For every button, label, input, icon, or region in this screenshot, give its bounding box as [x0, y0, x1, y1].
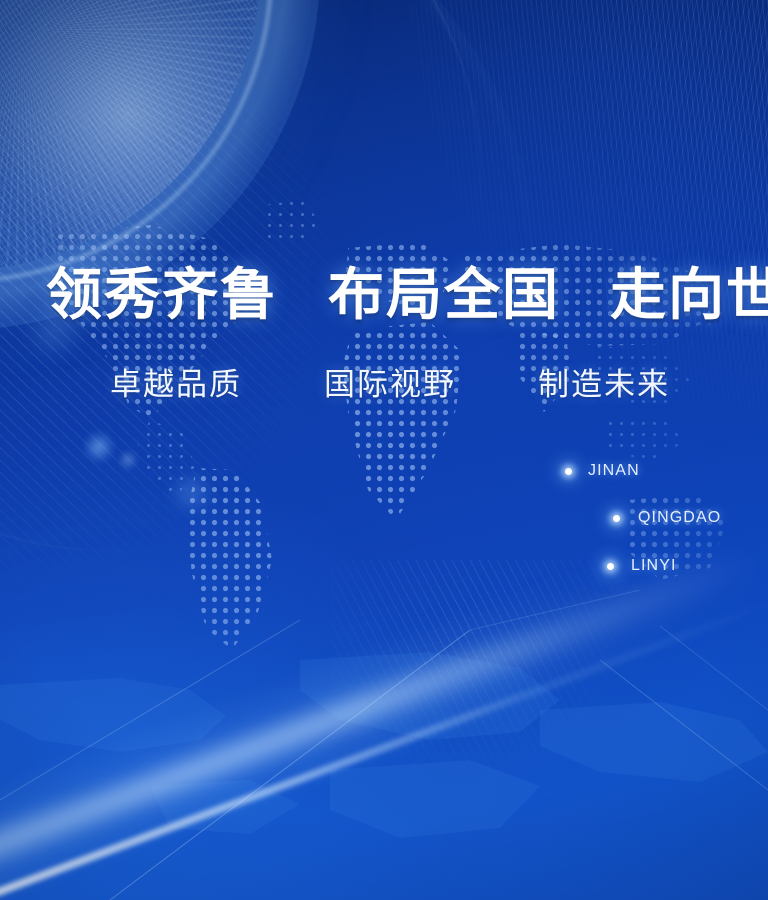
- city-label: LINYI: [631, 557, 677, 575]
- city-dot-icon: [607, 563, 614, 570]
- earth-globe-icon: [0, 0, 260, 270]
- hero-banner: 领秀齐鲁 布局全国 走向世界 卓越品质 国际视野 制造未来 JINAN QING…: [0, 0, 768, 900]
- subtitle-item-vision: 国际视野: [324, 366, 456, 404]
- glow-orb: [168, 470, 214, 516]
- glow-orb: [118, 450, 138, 470]
- subtitle-item-quality: 卓越品质: [110, 366, 242, 404]
- light-arc-soft: [0, 0, 536, 686]
- page-title: 领秀齐鲁 布局全国 走向世界: [46, 266, 726, 326]
- city-label: QINGDAO: [638, 509, 721, 527]
- city-label: JINAN: [588, 462, 640, 480]
- diagonal-light-beam-core: [0, 595, 768, 900]
- city-marker-jinan[interactable]: JINAN: [565, 462, 640, 480]
- headline-part-1: 领秀齐鲁: [46, 265, 278, 327]
- globe-atmosphere-rim: [0, 0, 272, 282]
- headline-part-3: 走向世界: [610, 265, 768, 327]
- city-dot-icon: [565, 468, 572, 475]
- subtitle-item-future: 制造未来: [538, 366, 670, 404]
- perspective-grid: [0, 590, 768, 900]
- city-marker-qingdao[interactable]: QINGDAO: [613, 509, 721, 527]
- city-marker-linyi[interactable]: LINYI: [607, 557, 677, 575]
- globe-terrain-layer: [0, 0, 260, 270]
- light-rays-secondary: [330, 560, 670, 860]
- headline-part-2: 布局全国: [328, 265, 560, 327]
- glow-orb: [82, 430, 116, 464]
- ground-plane: [0, 600, 768, 900]
- vignette-overlay: [0, 0, 768, 900]
- dotted-world-map: [0, 0, 768, 900]
- page-subtitle: 卓越品质 国际视野 制造未来: [110, 366, 670, 404]
- city-dot-icon: [613, 515, 620, 522]
